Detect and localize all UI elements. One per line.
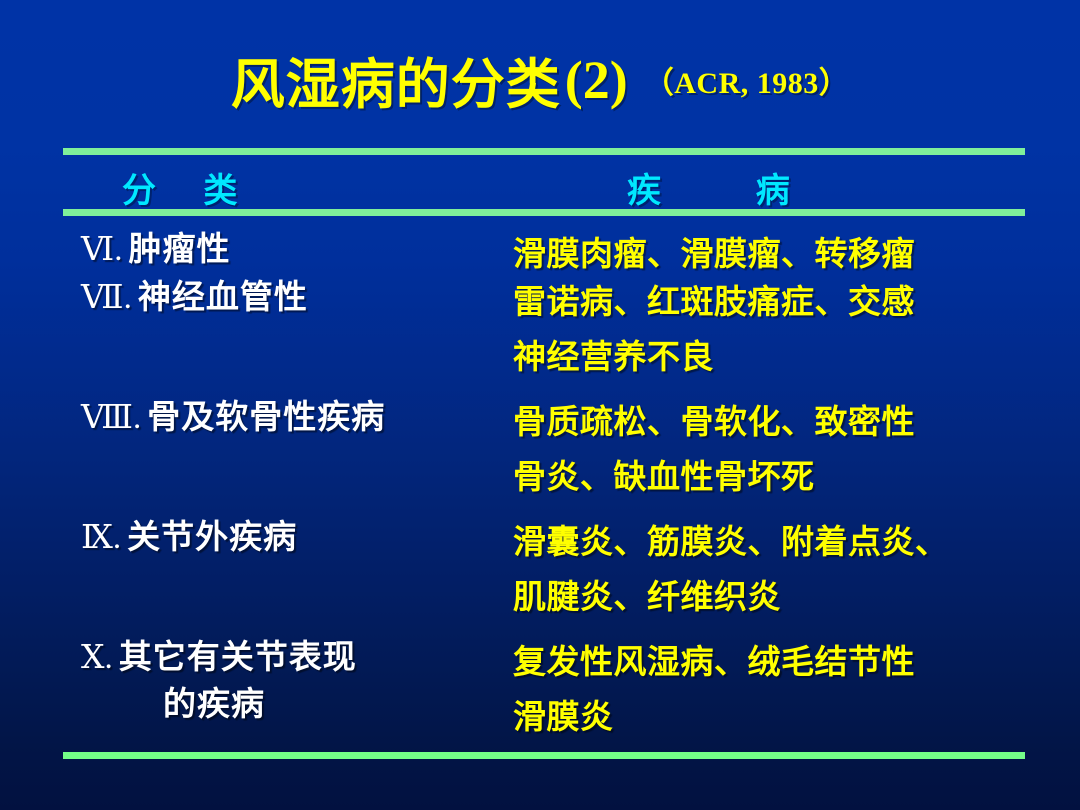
- disease-line: 滑囊炎、筋膜炎、附着点炎、: [513, 514, 1025, 569]
- row-disease-cell: 雷诺病、红斑肢痛症、交感 神经营养不良: [513, 274, 1025, 384]
- row-disease-cell: 复发性风湿病、绒毛结节性 滑膜炎: [513, 634, 1025, 744]
- disease-line: 骨炎、缺血性骨坏死: [513, 449, 1025, 504]
- row-category-label: 肿瘤性: [128, 229, 230, 268]
- slide-title: 风湿病的分类(2)（ACR, 1983）: [0, 40, 1080, 119]
- disease-line: 肌腱炎、纤维织炎: [513, 569, 1025, 624]
- table-body: Ⅵ.肿瘤性 滑膜肉瘤、滑膜瘤、转移瘤 Ⅶ.神经血管性 雷诺病、红斑肢痛症、交感 …: [63, 226, 1025, 746]
- row-category-cell: Ⅹ.其它有关节表现 的疾病: [81, 634, 521, 727]
- row-numeral: Ⅵ.: [81, 232, 122, 268]
- title-source-citation: （ACR, 1983）: [644, 67, 850, 100]
- disease-line: 滑膜炎: [513, 689, 1025, 744]
- row-category-cell: Ⅶ.神经血管性: [81, 274, 521, 321]
- row-disease-cell: 滑膜肉瘤、滑膜瘤、转移瘤: [513, 226, 1025, 281]
- row-category-label: 其它有关节表现: [119, 637, 357, 676]
- disease-line: 雷诺病、红斑肢痛症、交感: [513, 274, 1025, 329]
- row-category-label: 关节外疾病: [127, 517, 297, 556]
- row-disease-cell: 骨质疏松、骨软化、致密性 骨炎、缺血性骨坏死: [513, 394, 1025, 504]
- row-numeral: Ⅹ.: [81, 640, 113, 676]
- divider-top: [63, 148, 1025, 155]
- disease-line: 复发性风湿病、绒毛结节性: [513, 634, 1025, 689]
- row-category-label: 骨及软骨性疾病: [147, 397, 385, 436]
- disease-line: 神经营养不良: [513, 329, 1025, 384]
- column-header-disease: 疾 病: [627, 163, 790, 212]
- row-disease-cell: 滑囊炎、筋膜炎、附着点炎、 肌腱炎、纤维织炎: [513, 514, 1025, 624]
- row-category-label: 神经血管性: [138, 277, 308, 316]
- row-numeral: Ⅸ.: [81, 520, 121, 556]
- title-main-text: 风湿病的分类: [231, 53, 561, 116]
- row-numeral: Ⅷ.: [81, 400, 141, 436]
- row-numeral: Ⅶ.: [81, 280, 132, 316]
- divider-bottom: [63, 752, 1025, 759]
- slide-canvas: 风湿病的分类(2)（ACR, 1983） 分 类 疾 病 Ⅵ.肿瘤性 滑膜肉瘤、…: [0, 0, 1080, 810]
- title-number: (2): [565, 50, 628, 110]
- column-header-category: 分 类: [122, 163, 237, 212]
- row-category-cell: Ⅵ.肿瘤性: [81, 226, 521, 273]
- row-category-label-continued: 的疾病: [163, 681, 521, 727]
- row-category-cell: Ⅸ.关节外疾病: [81, 514, 521, 561]
- disease-line: 滑膜肉瘤、滑膜瘤、转移瘤: [513, 226, 1025, 281]
- disease-line: 骨质疏松、骨软化、致密性: [513, 394, 1025, 449]
- row-category-cell: Ⅷ.骨及软骨性疾病: [81, 394, 521, 441]
